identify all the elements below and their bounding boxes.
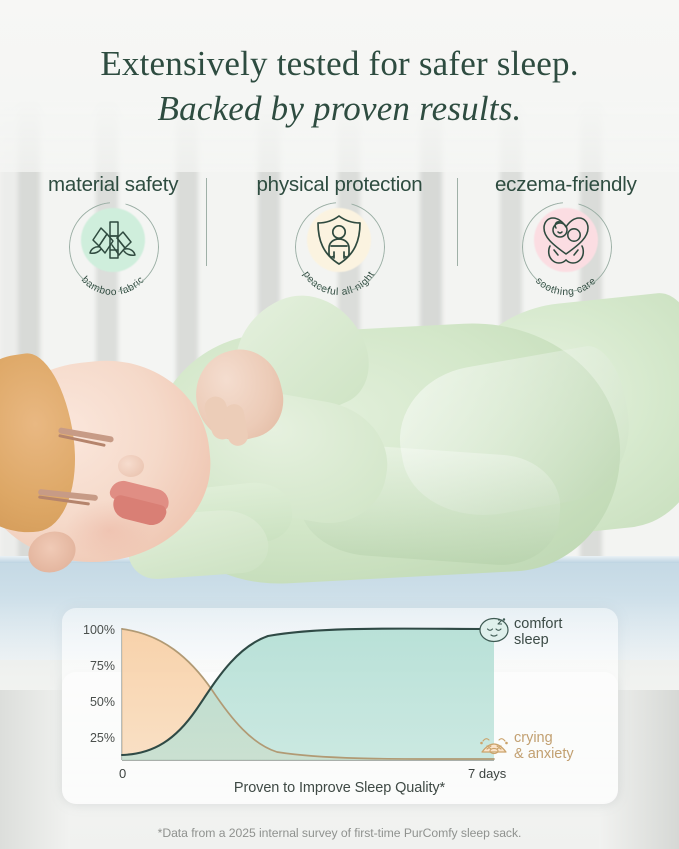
badge-divider bbox=[457, 178, 458, 266]
badge-title: eczema-friendly bbox=[495, 172, 637, 198]
comfort-legend-line-1: comfort bbox=[514, 616, 562, 632]
badge-mark: soothing care bbox=[520, 200, 612, 292]
badge-ring bbox=[295, 202, 385, 292]
y-tick-label: 50% bbox=[90, 695, 115, 709]
y-tick-label: 75% bbox=[90, 659, 115, 673]
crying-legend: crying & anxiety bbox=[480, 730, 574, 762]
y-tick-label: 25% bbox=[90, 731, 115, 745]
feature-badges: material safety bbox=[0, 172, 679, 292]
badge-divider bbox=[206, 178, 207, 266]
promo-page: Extensively tested for safer sleep. Back… bbox=[0, 0, 679, 849]
y-tick-label: 100% bbox=[83, 623, 115, 637]
headline-line-2: Backed by proven results. bbox=[0, 86, 679, 132]
baby-nose bbox=[118, 455, 144, 477]
badge-ring bbox=[69, 202, 159, 292]
badge-mark: peaceful all night bbox=[293, 200, 385, 292]
sleeping-baby bbox=[0, 300, 679, 590]
headline-line-1: Extensively tested for safer sleep. bbox=[0, 42, 679, 86]
badge-title: material safety bbox=[48, 172, 178, 198]
sleep-quality-chart: 100% 75% 50% 25% 0 7 days bbox=[62, 608, 618, 804]
sleeping-baby-icon bbox=[480, 618, 508, 641]
badge-title: physical protection bbox=[256, 172, 422, 198]
comfort-legend-line-2: sleep bbox=[514, 632, 549, 648]
page-title: Extensively tested for safer sleep. Back… bbox=[0, 42, 679, 132]
crying-legend-line-2: & anxiety bbox=[514, 746, 574, 762]
y-axis-ticks: 100% 75% 50% 25% bbox=[83, 623, 115, 745]
chart-caption: Proven to Improve Sleep Quality* bbox=[0, 780, 679, 796]
badge-material-safety[interactable]: material safety bbox=[0, 172, 226, 292]
badge-physical-protection[interactable]: physical protection peaceful all nig bbox=[226, 172, 452, 292]
sleep-quality-chart-card: 100% 75% 50% 25% 0 7 days bbox=[62, 608, 618, 804]
badge-ring bbox=[522, 202, 612, 292]
x-tick-label-end: 7 days bbox=[468, 766, 507, 781]
x-tick-label-start: 0 bbox=[119, 766, 126, 781]
badge-mark: bamboo fabric bbox=[67, 200, 159, 292]
footnote: *Data from a 2025 internal survey of fir… bbox=[0, 826, 679, 840]
crying-legend-line-1: crying bbox=[514, 730, 553, 746]
badge-eczema-friendly[interactable]: eczema-friendly bbox=[453, 172, 679, 292]
